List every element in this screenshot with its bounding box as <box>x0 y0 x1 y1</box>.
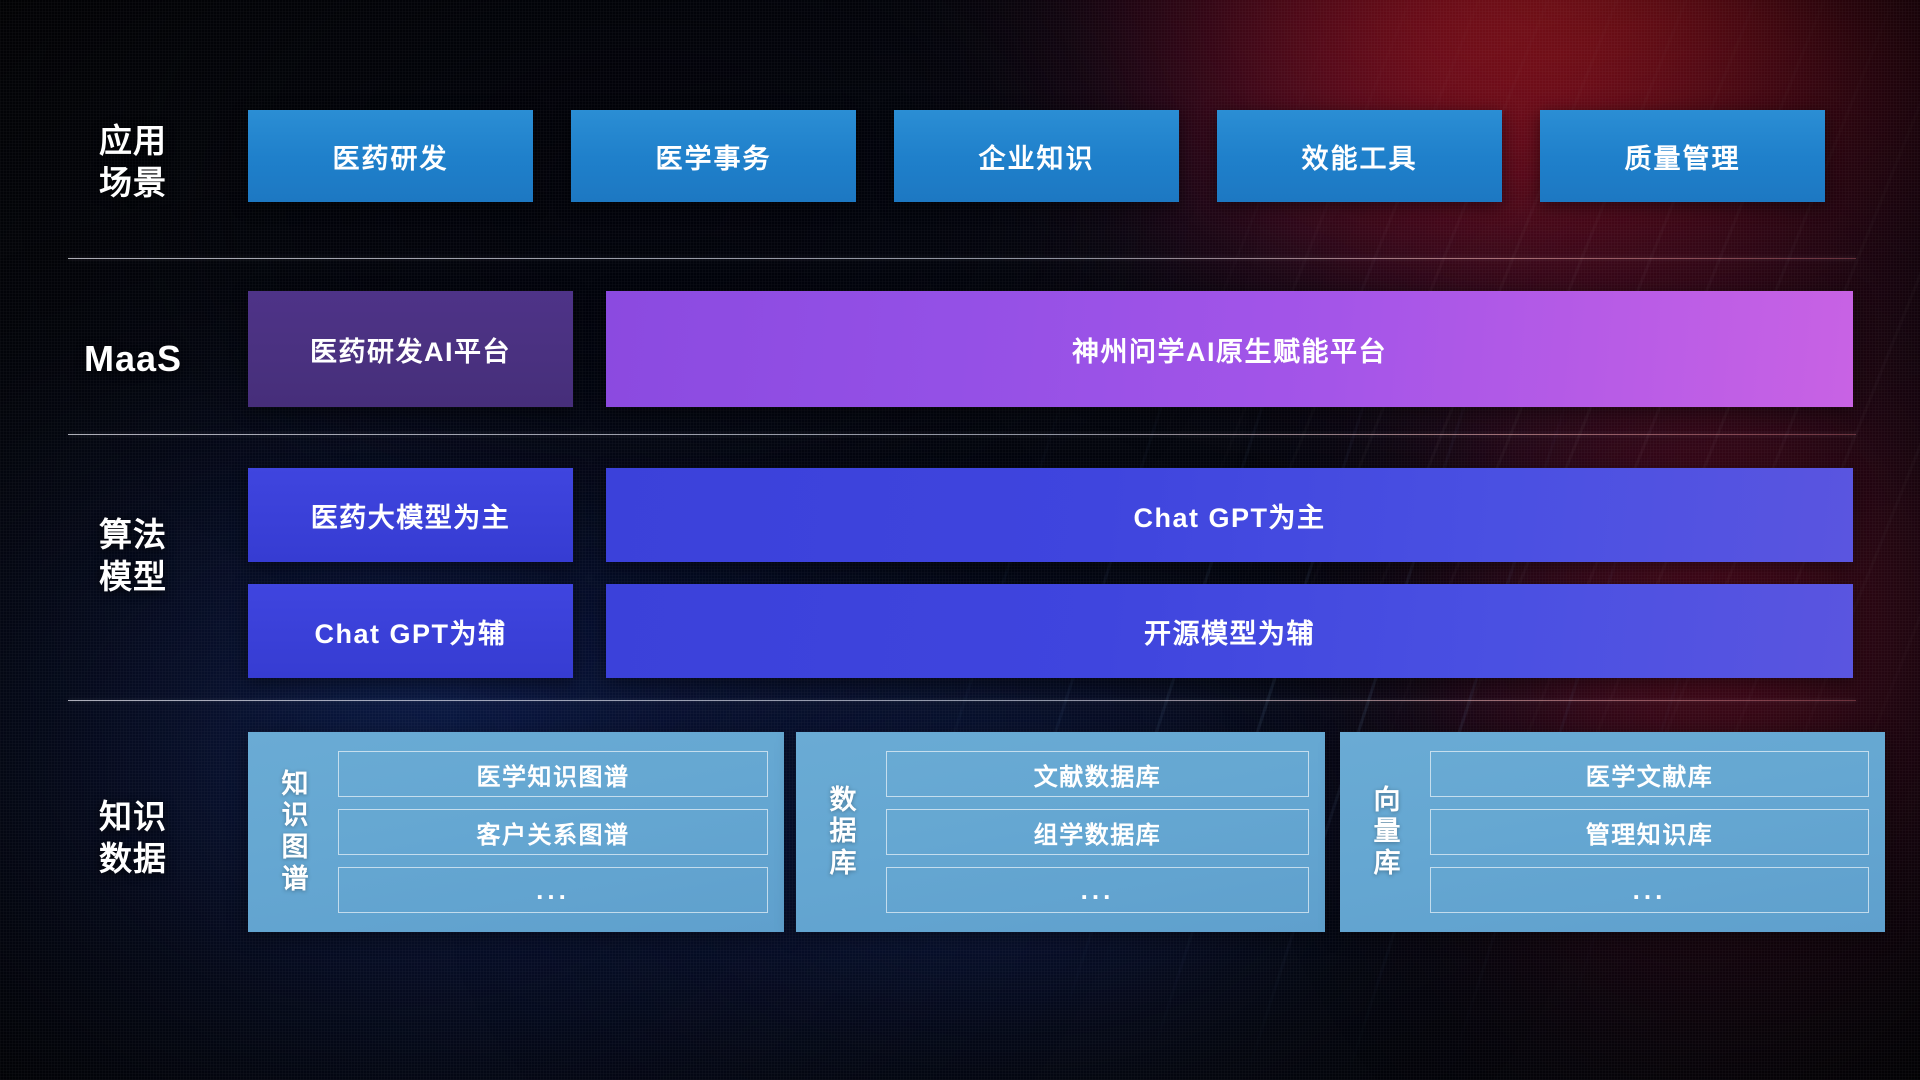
knowledge-group-items: 文献数据库 组学数据库 ... <box>874 751 1309 913</box>
app-box-label: 医学事务 <box>656 137 772 176</box>
app-box-medical-affairs[interactable]: 医学事务 <box>571 110 856 202</box>
app-box-quality-management[interactable]: 质量管理 <box>1540 110 1825 202</box>
knowledge-item-customer-relation-graph[interactable]: 客户关系图谱 <box>338 809 768 855</box>
knowledge-item-label: 医学文献库 <box>1586 757 1714 792</box>
knowledge-item-label: 管理知识库 <box>1586 815 1714 850</box>
app-box-label: 医药研发 <box>333 137 449 176</box>
tier-label-maas: MaaS <box>58 336 208 381</box>
knowledge-group-title: 数 据 库 <box>812 785 874 880</box>
algo-box-opensource-model-secondary[interactable]: 开源模型为辅 <box>606 584 1853 678</box>
app-box-enterprise-knowledge[interactable]: 企业知识 <box>894 110 1179 202</box>
algo-box-chatgpt-secondary[interactable]: Chat GPT为辅 <box>248 584 573 678</box>
knowledge-item-literature-database[interactable]: 文献数据库 <box>886 751 1309 797</box>
knowledge-group-title: 向 量 库 <box>1356 785 1418 880</box>
knowledge-group-vector-database[interactable]: 向 量 库 医学文献库 管理知识库 ... <box>1340 732 1885 932</box>
knowledge-item-more[interactable]: ... <box>886 867 1309 913</box>
maas-box-label: 神州问学AI原生赋能平台 <box>1072 330 1387 369</box>
algorithm-models-row-2: Chat GPT为辅 开源模型为辅 <box>248 584 1853 678</box>
divider-2 <box>68 434 1856 435</box>
app-box-label: 质量管理 <box>1625 137 1741 176</box>
maas-box-shenzhou-wenxue-platform[interactable]: 神州问学AI原生赋能平台 <box>606 291 1853 407</box>
knowledge-group-items: 医学文献库 管理知识库 ... <box>1418 751 1869 913</box>
app-box-label: 效能工具 <box>1302 137 1418 176</box>
knowledge-group-items: 医学知识图谱 客户关系图谱 ... <box>326 751 768 913</box>
app-box-medical-rnd[interactable]: 医药研发 <box>248 110 533 202</box>
knowledge-item-management-knowledge-base[interactable]: 管理知识库 <box>1430 809 1869 855</box>
knowledge-item-label: 文献数据库 <box>1034 757 1162 792</box>
maas-box-pharma-ai-platform[interactable]: 医药研发AI平台 <box>248 291 573 407</box>
application-scenarios-row: 医药研发 医学事务 企业知识 效能工具 质量管理 <box>248 110 1853 202</box>
app-box-efficiency-tools[interactable]: 效能工具 <box>1217 110 1502 202</box>
knowledge-item-label: 医学知识图谱 <box>477 757 630 792</box>
algo-box-chatgpt-primary[interactable]: Chat GPT为主 <box>606 468 1853 562</box>
knowledge-item-label: ... <box>1081 875 1115 906</box>
knowledge-item-medical-knowledge-graph[interactable]: 医学知识图谱 <box>338 751 768 797</box>
knowledge-item-more[interactable]: ... <box>338 867 768 913</box>
knowledge-item-label: ... <box>1633 875 1667 906</box>
algo-box-pharma-large-model-primary[interactable]: 医药大模型为主 <box>248 468 573 562</box>
divider-3 <box>68 700 1856 701</box>
divider-1 <box>68 258 1856 259</box>
tier-label-algorithm-models: 算法 模型 <box>58 514 208 597</box>
knowledge-item-label: ... <box>536 875 570 906</box>
architecture-diagram: 应用 场景 医药研发 医学事务 企业知识 效能工具 质量管理 MaaS 医药研发… <box>0 0 1920 1080</box>
algorithm-models-row-1: 医药大模型为主 Chat GPT为主 <box>248 468 1853 562</box>
maas-box-label: 医药研发AI平台 <box>310 330 511 369</box>
knowledge-group-knowledge-graph[interactable]: 知 识 图 谱 医学知识图谱 客户关系图谱 ... <box>248 732 784 932</box>
algo-box-label: Chat GPT为主 <box>1133 496 1325 535</box>
app-box-label: 企业知识 <box>979 137 1095 176</box>
knowledge-item-medical-literature-library[interactable]: 医学文献库 <box>1430 751 1869 797</box>
maas-row: 医药研发AI平台 神州问学AI原生赋能平台 <box>248 291 1853 407</box>
knowledge-item-omics-database[interactable]: 组学数据库 <box>886 809 1309 855</box>
knowledge-item-more[interactable]: ... <box>1430 867 1869 913</box>
knowledge-group-database[interactable]: 数 据 库 文献数据库 组学数据库 ... <box>796 732 1325 932</box>
tier-label-application-scenarios: 应用 场景 <box>58 120 208 203</box>
tier-label-knowledge-data: 知识 数据 <box>58 796 208 879</box>
algo-box-label: 医药大模型为主 <box>311 496 511 535</box>
knowledge-group-title: 知 识 图 谱 <box>264 769 326 895</box>
algo-box-label: Chat GPT为辅 <box>314 612 506 651</box>
algo-box-label: 开源模型为辅 <box>1144 612 1315 651</box>
knowledge-item-label: 组学数据库 <box>1034 815 1162 850</box>
knowledge-item-label: 客户关系图谱 <box>477 815 630 850</box>
